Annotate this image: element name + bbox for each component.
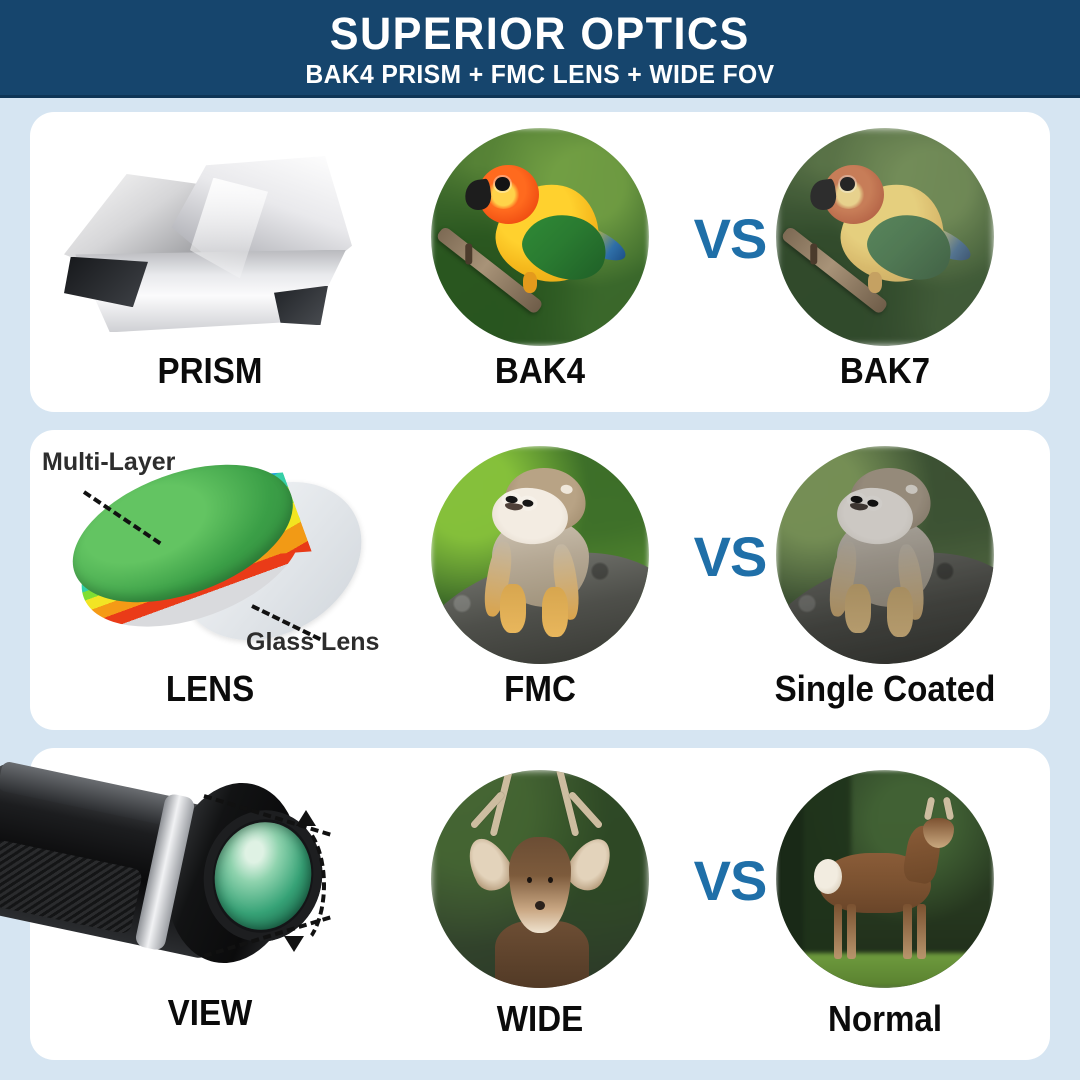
single-coated-label: Single Coated [733,668,1037,710]
bak7-label: BAK7 [733,350,1037,392]
page-subtitle: BAK4 PRISM + FMC LENS + WIDE FOV [305,61,774,88]
monocular-fov-icon [8,758,408,1028]
fov-arrow-up [296,810,316,826]
deer-distant-photo [776,770,994,988]
single-coated-cell: Single Coated [720,430,1050,730]
header-banner: SUPERIOR OPTICS BAK4 PRISM + FMC LENS + … [0,0,1080,98]
fmc-label: FMC [402,668,678,710]
prism-label: PRISM [44,350,375,392]
prism-feature-cell: PRISM [30,112,390,412]
prism-row-card: PRISM BAK4 VS [30,112,1050,412]
monkey-bright-photo [431,446,649,664]
wide-cell: WIDE [390,748,690,1060]
parrot-sharp-photo [431,128,649,346]
prism-icon [58,156,358,336]
parrot-dull-photo [776,128,994,346]
view-feature-cell: VIEW [30,748,390,1060]
normal-label: Normal [733,998,1037,1040]
lens-row-card: Multi-Layer Glass Lens LENS [30,430,1050,730]
infographic-page: SUPERIOR OPTICS BAK4 PRISM + FMC LENS + … [0,0,1080,1080]
deer-closeup-photo [431,770,649,988]
bak4-label: BAK4 [402,350,678,392]
lens-label: LENS [44,668,375,710]
fov-arc [260,820,326,950]
view-row-card: VIEW [30,748,1050,1060]
monkey-dark-photo [776,446,994,664]
normal-cell: Normal [720,748,1050,1060]
wide-label: WIDE [402,998,678,1040]
page-title: SUPERIOR OPTICS [330,11,750,57]
view-label: VIEW [44,992,375,1034]
fov-arrow-down [284,936,304,952]
glass-lens-callout: Glass Lens [246,628,379,657]
header-rule [0,95,1080,98]
bak4-cell: BAK4 [390,112,690,412]
multi-layer-callout: Multi-Layer [42,448,175,477]
fmc-cell: FMC [390,430,690,730]
bak7-cell: BAK7 [720,112,1050,412]
lens-feature-cell: Multi-Layer Glass Lens LENS [30,430,390,730]
